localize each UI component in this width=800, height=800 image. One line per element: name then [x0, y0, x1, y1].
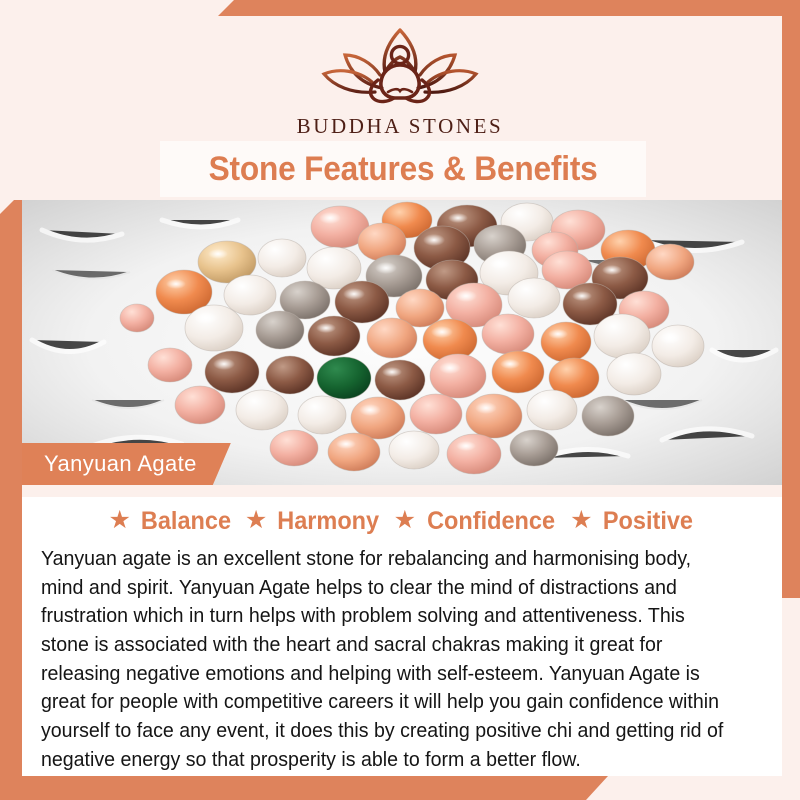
lotus-meditation-figure-icon: [312, 22, 488, 108]
benefit-item-positive: ★ Positive: [570, 507, 695, 536]
description-text: Yanyuan agate is an excellent stone for …: [41, 545, 731, 775]
star-icon: ★: [394, 508, 416, 533]
benefit-item-balance: ★ Balance: [109, 507, 234, 536]
benefits-list: ★ Balance ★ Harmony ★ Confidence ★ Posit…: [22, 497, 782, 536]
frame-bar-left: [0, 200, 22, 800]
infographic-page: BUDDHA STONES Stone Features & Benefits: [0, 0, 800, 800]
benefit-item-confidence: ★ Confidence: [394, 507, 560, 536]
benefit-item-harmony: ★ Harmony: [245, 507, 383, 536]
benefit-label: Positive: [602, 507, 692, 536]
frame-bar-top: [218, 0, 800, 16]
description-panel: ★ Balance ★ Harmony ★ Confidence ★ Posit…: [22, 497, 782, 776]
star-icon: ★: [245, 508, 267, 533]
frame-bar-bottom: [0, 776, 608, 800]
brand-logo: BUDDHA STONES: [0, 22, 800, 139]
stone-name-tag: Yanyuan Agate: [22, 443, 231, 485]
product-photo: [22, 200, 782, 485]
title-banner: Stone Features & Benefits: [160, 141, 646, 197]
benefit-label: Confidence: [427, 507, 555, 536]
benefit-label: Balance: [141, 507, 231, 536]
stone-name-label: Yanyuan Agate: [44, 451, 197, 477]
star-icon: ★: [109, 508, 131, 533]
star-icon: ★: [570, 508, 592, 533]
brand-name: BUDDHA STONES: [297, 114, 504, 139]
benefit-label: Harmony: [278, 507, 380, 536]
page-title: Stone Features & Benefits: [209, 150, 598, 189]
